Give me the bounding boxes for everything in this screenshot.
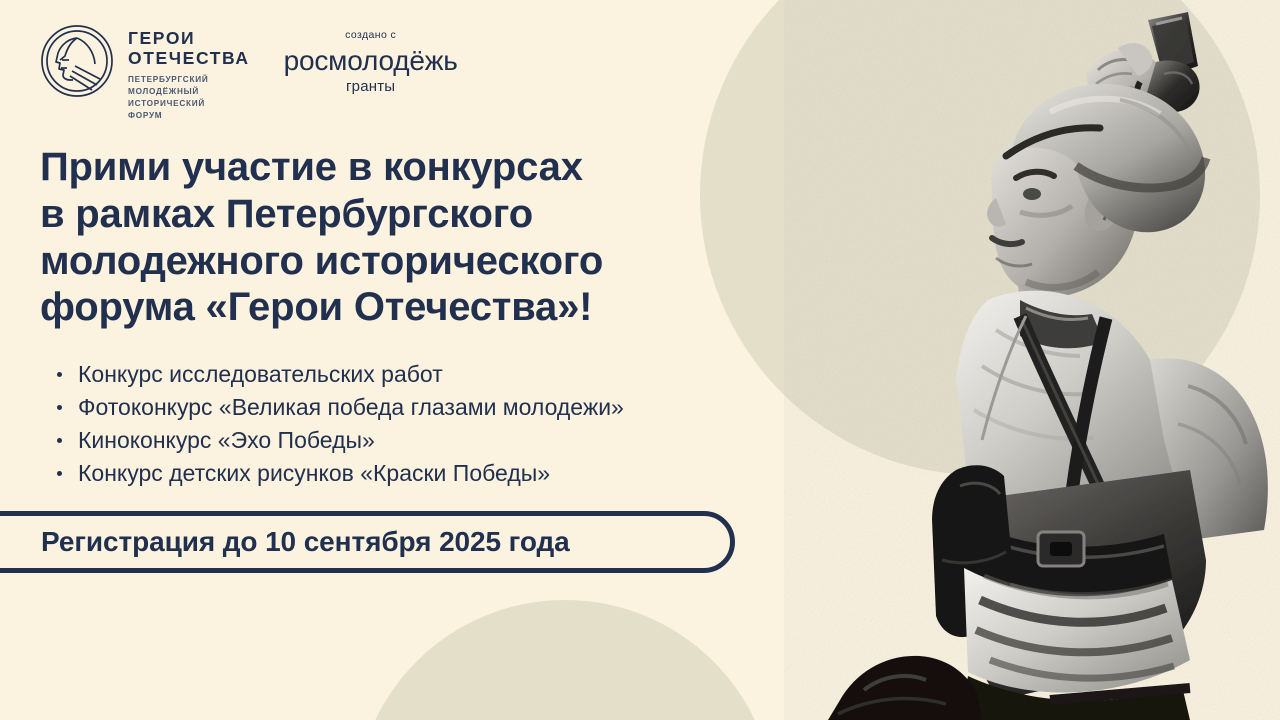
bullet-dot-icon xyxy=(57,471,62,476)
list-item-label: Конкурс детских рисунков «Краски Победы» xyxy=(78,460,550,486)
logo-bar: ГЕРОИ ОТЕЧЕСТВА ПЕТЕРБУРГСКИЙ МОЛОДЁЖНЫЙ… xyxy=(40,24,458,122)
partner-name: росмолодёжь xyxy=(284,47,458,75)
contest-list: Конкурс исследовательских работ Фотоконк… xyxy=(52,358,852,490)
bullet-dot-icon xyxy=(57,405,62,410)
decorative-circle-bottom-center xyxy=(355,600,775,720)
rosmolodezh-grants-logo[interactable]: создано с росмолодёжь гранты xyxy=(284,24,458,94)
registration-deadline-text: Регистрация до 10 сентября 2025 года xyxy=(41,526,570,558)
promo-poster: ГЕРОИ ОТЕЧЕСТВА ПЕТЕРБУРГСКИЙ МОЛОДЁЖНЫЙ… xyxy=(0,0,1280,720)
list-item: Конкурс исследовательских работ xyxy=(52,358,852,391)
list-item: Конкурс детских рисунков «Краски Победы» xyxy=(52,457,852,490)
forum-name-line-1: ГЕРОИ xyxy=(128,29,250,49)
bullet-dot-icon xyxy=(57,372,62,377)
list-item: Фотоконкурс «Великая победа глазами моло… xyxy=(52,391,852,424)
registration-deadline-badge: Регистрация до 10 сентября 2025 года xyxy=(0,511,735,573)
forum-name-line-2: ОТЕЧЕСТВА xyxy=(128,49,250,69)
list-item-label: Фотоконкурс «Великая победа глазами моло… xyxy=(78,394,624,420)
list-item-label: Киноконкурс «Эхо Победы» xyxy=(78,427,375,453)
page-title: Прими участие в конкурсах в рамках Петер… xyxy=(40,144,700,331)
partner-pretext: создано с xyxy=(284,30,458,41)
partner-sub: гранты xyxy=(284,79,458,94)
forum-subtitle: ПЕТЕРБУРГСКИЙ МОЛОДЁЖНЫЙ ИСТОРИЧЕСКИЙ ФО… xyxy=(128,74,250,122)
bullet-dot-icon xyxy=(57,438,62,443)
forum-logo[interactable]: ГЕРОИ ОТЕЧЕСТВА ПЕТЕРБУРГСКИЙ МОЛОДЁЖНЫЙ… xyxy=(40,24,250,122)
soldier-profile-in-circle-icon xyxy=(40,24,114,98)
forum-wordmark: ГЕРОИ ОТЕЧЕСТВА ПЕТЕРБУРГСКИЙ МОЛОДЁЖНЫЙ… xyxy=(128,24,250,122)
list-item-label: Конкурс исследовательских работ xyxy=(78,361,443,387)
list-item: Киноконкурс «Эхо Победы» xyxy=(52,424,852,457)
